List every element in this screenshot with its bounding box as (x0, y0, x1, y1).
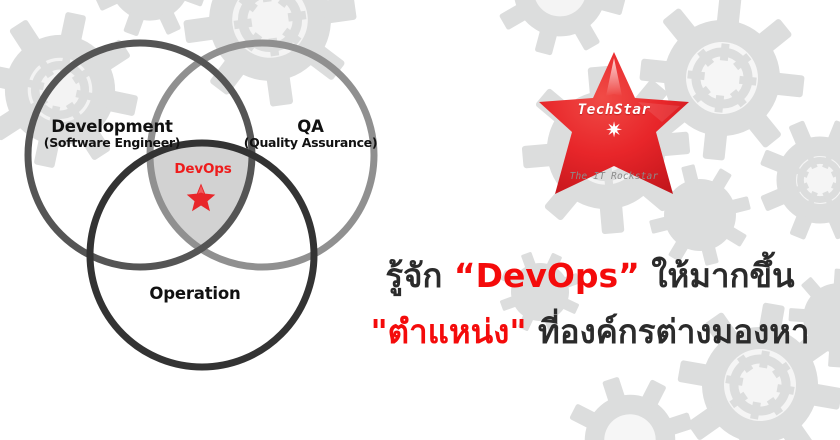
venn-label-qa: QA (Quality Assurance) (238, 118, 383, 150)
techstar-asterisk-icon: ✷ (534, 120, 694, 141)
venn-label-development: Development (Software Engineer) (22, 118, 202, 150)
headline-line-1-highlight: “DevOps” (454, 256, 640, 295)
headline-line-1-prefix: รู้จัก (385, 256, 454, 295)
headline-line-2: "ตำแหน่ง" ที่องค์กรต่างมองหา (350, 304, 830, 360)
venn-label-development-subtitle: (Software Engineer) (22, 136, 202, 150)
headline-line-2-suffix: ที่องค์กรต่างมองหา (527, 312, 810, 351)
red-star-icon (186, 182, 216, 212)
venn-label-development-title: Development (22, 118, 202, 136)
techstar-logo: TechStar ✷ The IT Rockstar (534, 48, 694, 208)
headline-line-1: รู้จัก “DevOps” ให้มากขึ้น (350, 248, 830, 304)
headline-line-1-suffix: ให้มากขึ้น (640, 256, 795, 295)
venn-label-qa-title: QA (238, 118, 383, 136)
techstar-wordmark: TechStar (534, 102, 694, 118)
headline: รู้จัก “DevOps” ให้มากขึ้น "ตำแหน่ง" ที่… (350, 248, 830, 360)
venn-label-qa-subtitle: (Quality Assurance) (238, 136, 383, 150)
venn-label-operation: Operation (130, 285, 260, 303)
techstar-tagline: The IT Rockstar (534, 171, 694, 182)
venn-label-devops: DevOps (163, 161, 243, 177)
headline-line-2-highlight: "ตำแหน่ง" (370, 312, 526, 351)
venn-label-operation-title: Operation (130, 285, 260, 303)
devops-banner: Development (Software Engineer) QA (Qual… (0, 0, 840, 440)
